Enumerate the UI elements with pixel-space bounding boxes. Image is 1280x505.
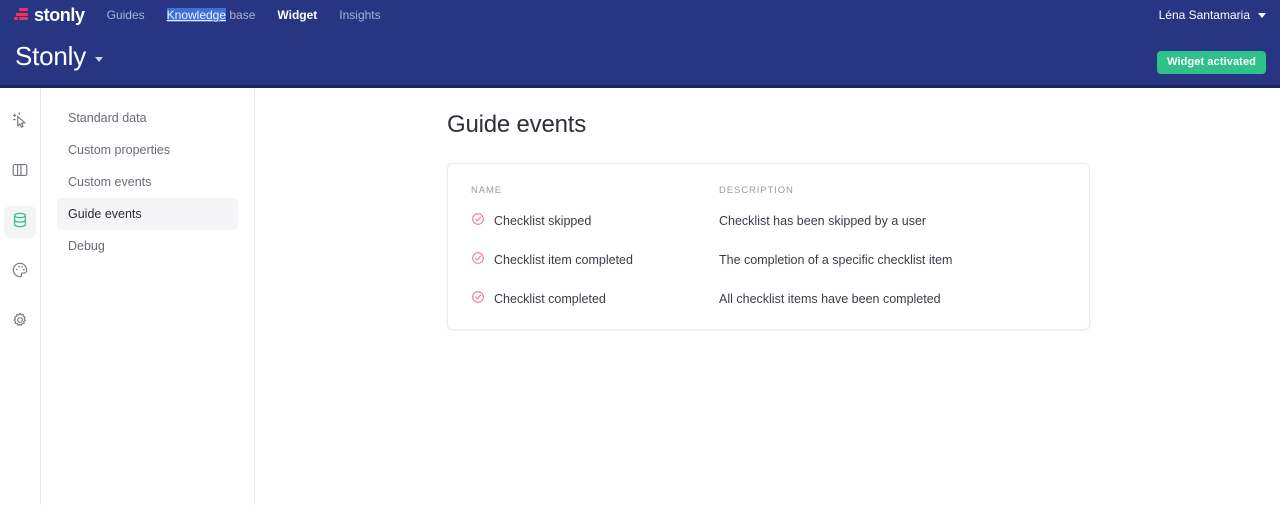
cursor-sparkle-icon — [11, 111, 29, 134]
card-bottom-spacer — [448, 318, 1089, 329]
table-row[interactable]: Checklist skipped Checklist has been ski… — [448, 201, 1089, 240]
sidebar-item-guide-events[interactable]: Guide events — [57, 198, 238, 230]
secondary-sidebar: Standard data Custom properties Custom e… — [41, 88, 255, 505]
rail-item-settings[interactable] — [4, 306, 36, 338]
status-badge[interactable]: Widget activated — [1157, 51, 1266, 74]
check-circle-icon — [471, 251, 485, 268]
event-name: Checklist item completed — [494, 253, 633, 267]
nav-link-widget[interactable]: Widget — [277, 8, 317, 22]
workspace-name: Stonly — [15, 41, 86, 72]
workspace-row: Stonly Widget activated — [0, 38, 1280, 82]
cell-name: Checklist completed — [471, 290, 719, 307]
primary-navigation: stonly Guides Knowledge base Widget Insi… — [0, 0, 1280, 30]
rail-item-layout-panel[interactable] — [4, 156, 36, 188]
chevron-down-icon — [1258, 13, 1266, 18]
column-header-name: NAME — [471, 185, 719, 196]
gear-icon — [11, 311, 29, 334]
guide-events-card: NAME DESCRIPTION Checklist skipped Check… — [447, 163, 1090, 330]
check-circle-icon — [471, 212, 485, 229]
stonly-logo-icon — [14, 7, 29, 23]
event-name: Checklist skipped — [494, 214, 591, 228]
sidebar-item-debug[interactable]: Debug — [57, 230, 238, 262]
user-menu[interactable]: Léna Santamaria — [1159, 0, 1266, 30]
page-title: Guide events — [447, 111, 586, 139]
event-description: All checklist items have been completed — [719, 292, 1066, 306]
nav-link-insights[interactable]: Insights — [339, 8, 380, 22]
column-header-description: DESCRIPTION — [719, 185, 1066, 196]
stonly-logo[interactable]: stonly — [14, 6, 85, 24]
sidebar-item-standard-data[interactable]: Standard data — [57, 102, 238, 134]
rail-item-database[interactable] — [4, 206, 36, 238]
workspace-selector[interactable]: Stonly — [15, 41, 103, 72]
cell-name: Checklist skipped — [471, 212, 719, 229]
database-icon — [11, 211, 29, 234]
rail-item-cursor-sparkle[interactable] — [4, 106, 36, 138]
table-header-row: NAME DESCRIPTION — [448, 164, 1089, 201]
palette-icon — [11, 261, 29, 284]
sidebar-item-custom-properties[interactable]: Custom properties — [57, 134, 238, 166]
logo-wordmark: stonly — [34, 6, 85, 24]
event-name: Checklist completed — [494, 292, 606, 306]
layout-panel-icon — [11, 161, 29, 184]
cell-name: Checklist item completed — [471, 251, 719, 268]
main-content: Guide events NAME DESCRIPTION Checklist … — [256, 88, 1280, 505]
nav-links: Guides Knowledge base Widget Insights — [107, 8, 381, 22]
table-row[interactable]: Checklist item completed The completion … — [448, 240, 1089, 279]
table-row[interactable]: Checklist completed All checklist items … — [448, 279, 1089, 318]
icon-rail — [0, 88, 41, 505]
top-header-bar: stonly Guides Knowledge base Widget Insi… — [0, 0, 1280, 88]
nav-link-guides[interactable]: Guides — [107, 8, 145, 22]
event-description: Checklist has been skipped by a user — [719, 214, 1066, 228]
nav-link-knowledge-base[interactable]: Knowledge base — [167, 8, 256, 22]
check-circle-icon — [471, 290, 485, 307]
nav-link-knowledge-base-selected-text: Knowledge — [167, 8, 226, 22]
event-description: The completion of a specific checklist i… — [719, 253, 1066, 267]
user-name: Léna Santamaria — [1159, 8, 1250, 22]
sidebar-item-custom-events[interactable]: Custom events — [57, 166, 238, 198]
caret-down-icon — [95, 57, 103, 62]
rail-item-palette[interactable] — [4, 256, 36, 288]
